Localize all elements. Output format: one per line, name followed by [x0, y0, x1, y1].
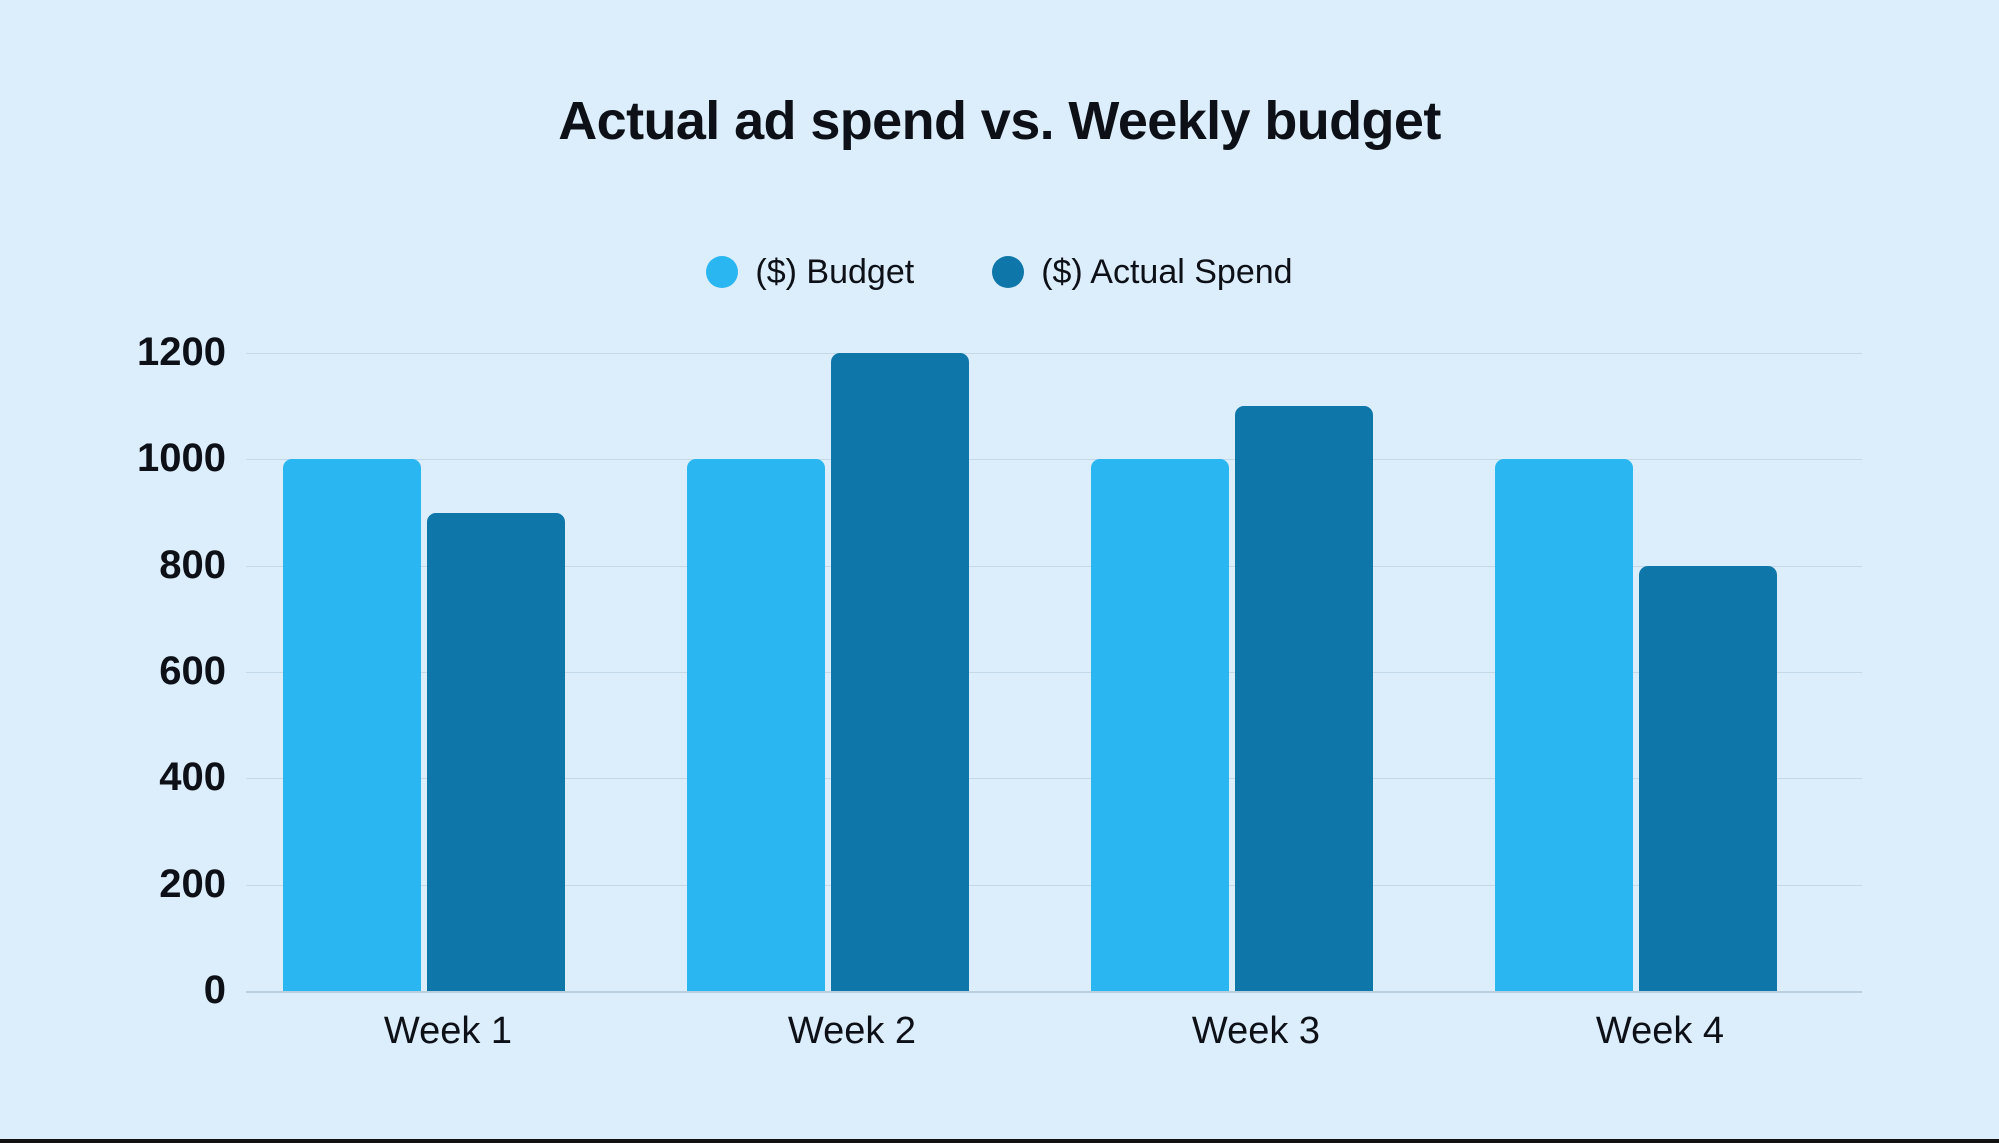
- plot-wrapper: 020040060080010001200 Week 1Week 2Week 3…: [0, 0, 1999, 1139]
- bar-budget[interactable]: [687, 459, 825, 991]
- x-axis-tick-label: Week 1: [246, 1012, 650, 1050]
- y-axis-tick-label: 1000: [137, 438, 226, 478]
- x-axis-line: [246, 991, 1862, 993]
- y-axis-tick-label: 800: [159, 545, 226, 585]
- bar-budget[interactable]: [1091, 459, 1229, 991]
- y-axis-tick-label: 1200: [137, 332, 226, 372]
- bar-actual-spend[interactable]: [427, 513, 565, 992]
- bar-actual-spend[interactable]: [1639, 566, 1777, 991]
- gridline: [246, 353, 1862, 354]
- y-axis-tick-label: 200: [159, 864, 226, 904]
- y-axis-tick-label: 0: [204, 970, 226, 1010]
- x-axis-tick-label: Week 3: [1054, 1012, 1458, 1050]
- chart-card: Actual ad spend vs. Weekly budget ($) Bu…: [0, 0, 1999, 1139]
- bar-budget[interactable]: [283, 459, 421, 991]
- x-axis-tick-label: Week 2: [650, 1012, 1054, 1050]
- y-axis-tick-label: 600: [159, 651, 226, 691]
- x-axis-tick-label: Week 4: [1458, 1012, 1862, 1050]
- bar-budget[interactable]: [1495, 459, 1633, 991]
- bar-actual-spend[interactable]: [1235, 406, 1373, 991]
- plot-area: [246, 353, 1862, 991]
- y-axis: 020040060080010001200: [100, 0, 226, 1139]
- bottom-divider: [0, 1139, 1999, 1143]
- bar-actual-spend[interactable]: [831, 353, 969, 991]
- y-axis-tick-label: 400: [159, 757, 226, 797]
